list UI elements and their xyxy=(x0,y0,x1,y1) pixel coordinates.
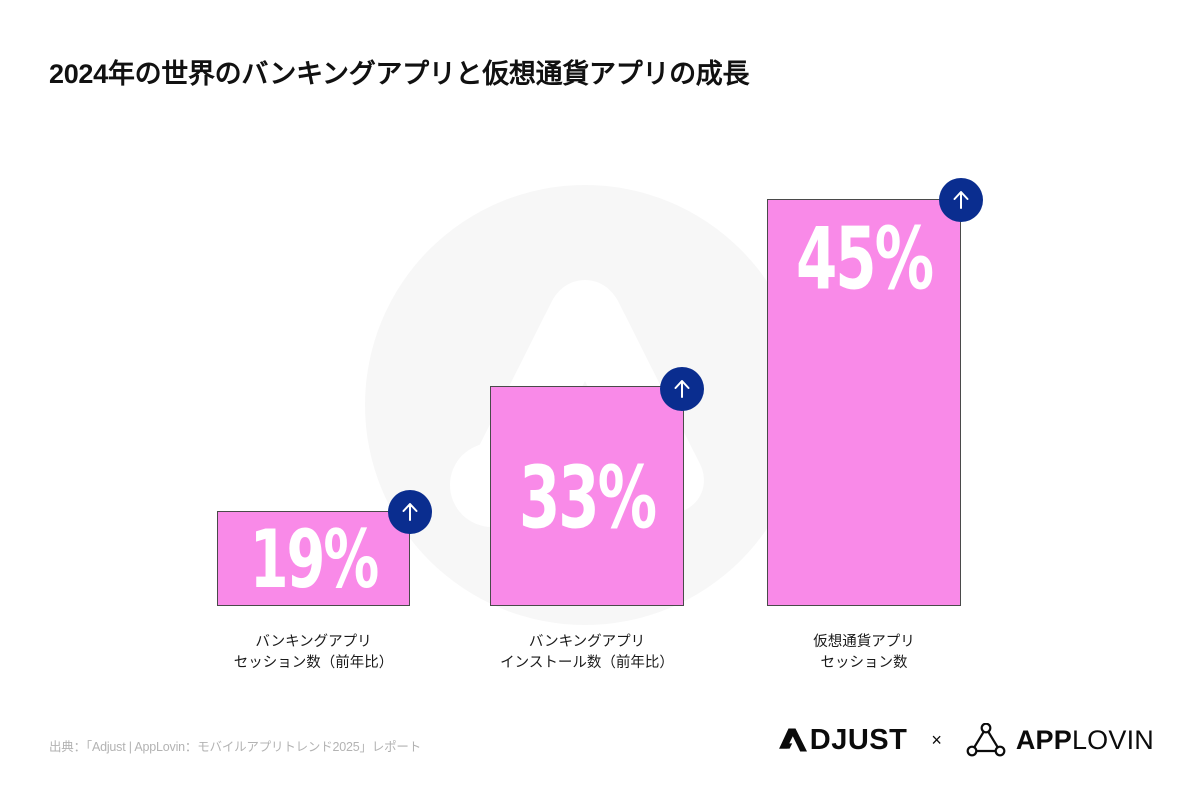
bar-2[interactable]: 33% xyxy=(490,386,684,606)
logo-separator: × xyxy=(927,730,946,751)
adjust-logo: DJUST xyxy=(778,726,908,755)
bar-label-1-line1: バンキングアプリ xyxy=(234,632,394,653)
bar-value-3: 45% xyxy=(796,221,932,300)
applovin-triangle-icon xyxy=(966,723,1006,757)
bar-label-3: 仮想通貨アプリ セッション数 xyxy=(813,632,915,674)
bar-label-2-line1: バンキングアプリ xyxy=(500,632,674,653)
bar-label-2-line2: インストール数（前年比） xyxy=(500,653,674,674)
applovin-logo-bold: APP xyxy=(1016,725,1072,755)
bar-group-3: 45% 仮想通貨アプリ セッション数 xyxy=(767,190,961,680)
arrow-up-icon-2 xyxy=(660,367,704,411)
bar-value-1: 19% xyxy=(250,521,378,595)
applovin-logo: APPLOVIN xyxy=(966,723,1154,757)
applovin-logo-light: LOVIN xyxy=(1072,725,1154,755)
arrow-up-icon-1 xyxy=(388,490,432,534)
bar-label-1: バンキングアプリ セッション数（前年比） xyxy=(234,632,394,674)
applovin-logo-word: APPLOVIN xyxy=(1016,727,1154,754)
bar-label-1-line2: セッション数（前年比） xyxy=(234,653,394,674)
adjust-logo-word: DJUST xyxy=(810,726,908,755)
slide-root: 2024年の世界のバンキングアプリと仮想通貨アプリの成長 19% バンキングアプ… xyxy=(0,0,1200,800)
bar-value-2: 33% xyxy=(519,460,655,539)
bar-group-2: 33% バンキングアプリ インストール数（前年比） xyxy=(490,190,684,680)
source-note: 出典：「Adjust | AppLovin：モバイルアプリトレンド2025」レポ… xyxy=(49,736,421,755)
bar-1[interactable]: 19% xyxy=(217,511,410,606)
bar-label-3-line2: セッション数 xyxy=(813,653,915,674)
footer-logos: DJUST × APPLOVIN xyxy=(778,718,1154,762)
arrow-up-icon-3 xyxy=(939,178,983,222)
bar-group-1: 19% バンキングアプリ セッション数（前年比） xyxy=(217,190,410,680)
bar-3[interactable]: 45% xyxy=(767,199,961,606)
bar-chart: 19% バンキングアプリ セッション数（前年比） 33% xyxy=(0,0,1200,800)
bar-label-3-line1: 仮想通貨アプリ xyxy=(813,632,915,653)
bar-label-2: バンキングアプリ インストール数（前年比） xyxy=(500,632,674,674)
adjust-a-mark-icon xyxy=(778,726,808,754)
